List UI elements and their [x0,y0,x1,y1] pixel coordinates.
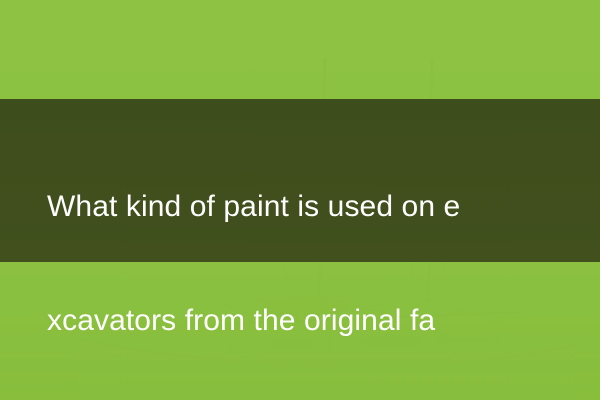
question-text: What kind of paint is used on e xcavator… [47,112,567,400]
question-text-line-2: xcavators from the original fa [47,302,567,340]
question-text-line-1: What kind of paint is used on e [47,188,567,226]
question-card: What kind of paint is used on e xcavator… [0,0,600,400]
